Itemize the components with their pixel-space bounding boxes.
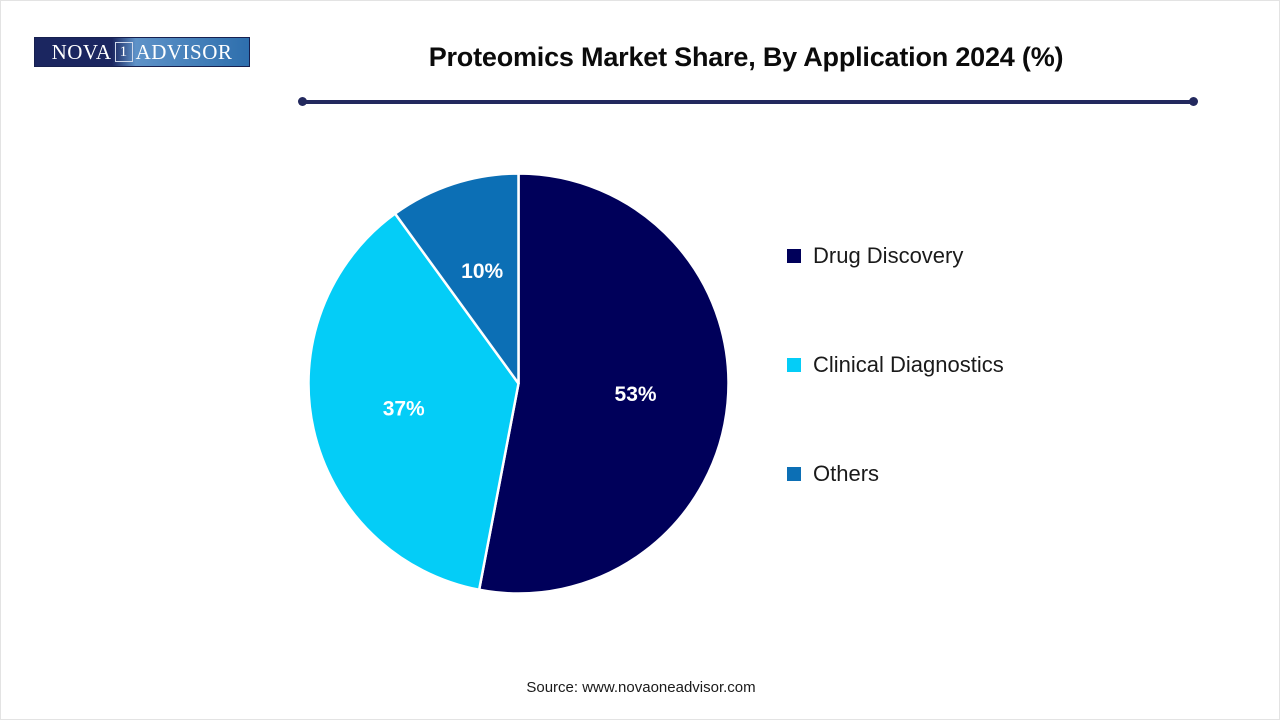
pie-chart: 53%37%10% — [308, 173, 729, 594]
title-divider — [298, 97, 1198, 106]
legend-swatch-others — [787, 467, 801, 481]
legend-item-clinical-diagnostics[interactable]: Clinical Diagnostics — [787, 345, 1207, 385]
chart-canvas: NOVA 1 ADVISOR Proteomics Market Share, … — [0, 0, 1280, 720]
legend-item-drug-discovery[interactable]: Drug Discovery — [787, 236, 1207, 276]
brand-logo-text: NOVA 1 ADVISOR — [52, 40, 233, 65]
pie-slices — [308, 174, 728, 594]
brand-logo-prefix: NOVA — [52, 40, 112, 65]
legend-item-others[interactable]: Others — [787, 454, 1207, 494]
chart-legend: Drug Discovery Clinical Diagnostics Othe… — [787, 236, 1207, 494]
brand-logo-suffix: ADVISOR — [136, 40, 233, 65]
pie-slice-label: 37% — [383, 398, 425, 421]
pie-slice-label: 53% — [615, 383, 657, 406]
page-title: Proteomics Market Share, By Application … — [301, 42, 1191, 73]
legend-label-others: Others — [813, 461, 879, 487]
legend-swatch-clinical-diagnostics — [787, 358, 801, 372]
legend-label-clinical-diagnostics: Clinical Diagnostics — [813, 352, 1004, 378]
legend-label-drug-discovery: Drug Discovery — [813, 243, 963, 269]
pie-chart-svg: 53%37%10% — [308, 173, 729, 594]
divider-line — [302, 100, 1194, 104]
brand-logo: NOVA 1 ADVISOR — [34, 37, 250, 67]
divider-dot-right-icon — [1189, 97, 1198, 106]
source-caption: Source: www.novaoneadvisor.com — [1, 679, 1280, 696]
brand-logo-badge: 1 — [115, 42, 133, 62]
legend-swatch-drug-discovery — [787, 249, 801, 263]
pie-slice-label: 10% — [461, 260, 503, 283]
